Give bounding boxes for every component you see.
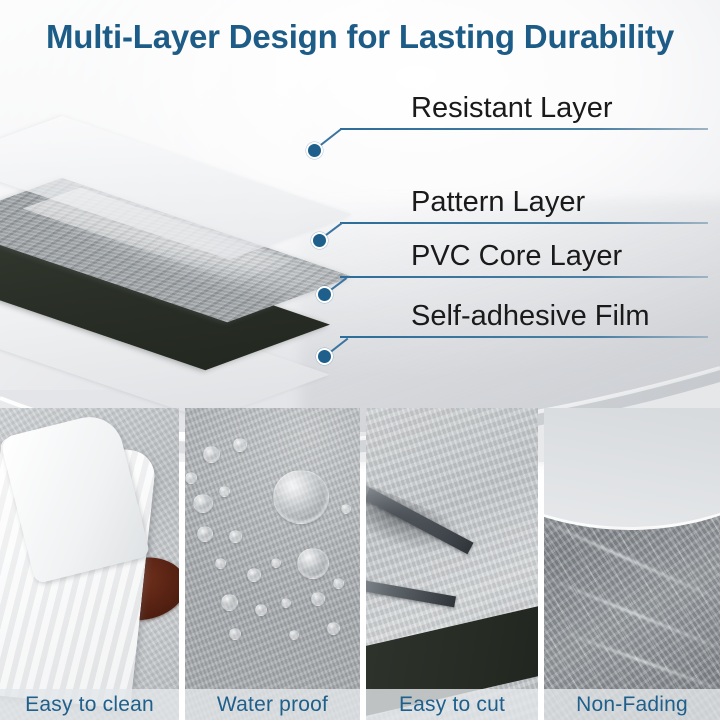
feature-caption-non-fading: Non-Fading — [544, 689, 720, 720]
photo-stone-texture — [544, 408, 720, 720]
water-droplet — [193, 494, 213, 513]
water-droplet — [271, 558, 281, 568]
callout-dot-pvc-core[interactable] — [316, 286, 333, 303]
feature-panel-non-fading[interactable]: Non-Fading — [544, 408, 720, 720]
callout-label-adhesive: Self-adhesive Film — [411, 300, 650, 333]
callout-label-resistant: Resistant Layer — [411, 92, 613, 125]
infographic-canvas: Multi-Layer Design for Lasting Durabilit… — [0, 0, 720, 720]
water-droplet — [229, 530, 242, 543]
water-droplet — [333, 578, 344, 589]
callout-line-pattern — [340, 222, 708, 224]
scissor-blade-lower — [366, 576, 456, 608]
water-droplet — [219, 486, 230, 497]
water-droplet — [197, 526, 213, 542]
feature-panel-easy-to-cut[interactable]: Easy to cut — [366, 408, 538, 720]
decorative-arc — [544, 408, 720, 530]
water-droplet — [341, 504, 351, 514]
water-droplet — [229, 628, 241, 640]
water-droplet — [221, 594, 238, 611]
water-droplet — [273, 470, 329, 524]
water-droplet — [247, 568, 261, 582]
water-droplet — [311, 592, 325, 606]
page-title: Multi-Layer Design for Lasting Durabilit… — [0, 18, 720, 56]
feature-caption-easy-to-clean: Easy to clean — [0, 689, 179, 720]
callout-label-pattern: Pattern Layer — [411, 186, 585, 219]
water-droplet — [327, 622, 340, 635]
layer-sheet-resistant — [62, 116, 352, 266]
callout-dot-pattern[interactable] — [311, 232, 328, 249]
water-droplet — [255, 604, 267, 616]
water-droplet — [297, 548, 329, 579]
water-droplet — [289, 630, 299, 640]
photo-cleaning-stone-floor — [0, 408, 179, 720]
feature-caption-water-proof: Water proof — [185, 689, 360, 720]
water-droplet — [185, 472, 197, 484]
water-droplet — [203, 446, 220, 463]
callout-line-resistant — [340, 128, 708, 130]
callout-line-adhesive — [340, 336, 708, 338]
callout-dot-resistant[interactable] — [306, 142, 323, 159]
feature-panel-grid: Easy to clean — [0, 408, 720, 720]
callout-line-pvc-core — [340, 276, 708, 278]
feature-caption-easy-to-cut: Easy to cut — [366, 689, 538, 720]
water-droplet — [233, 438, 247, 452]
water-droplet — [215, 558, 226, 569]
feature-panel-easy-to-clean[interactable]: Easy to clean — [0, 408, 179, 720]
scissor-shadow — [366, 486, 469, 568]
photo-water-beading — [185, 408, 360, 720]
water-droplet — [281, 598, 291, 608]
callout-label-pvc-core: PVC Core Layer — [411, 240, 622, 273]
feature-panel-water-proof[interactable]: Water proof — [185, 408, 360, 720]
photo-scissors-cutting-tile — [366, 408, 538, 720]
